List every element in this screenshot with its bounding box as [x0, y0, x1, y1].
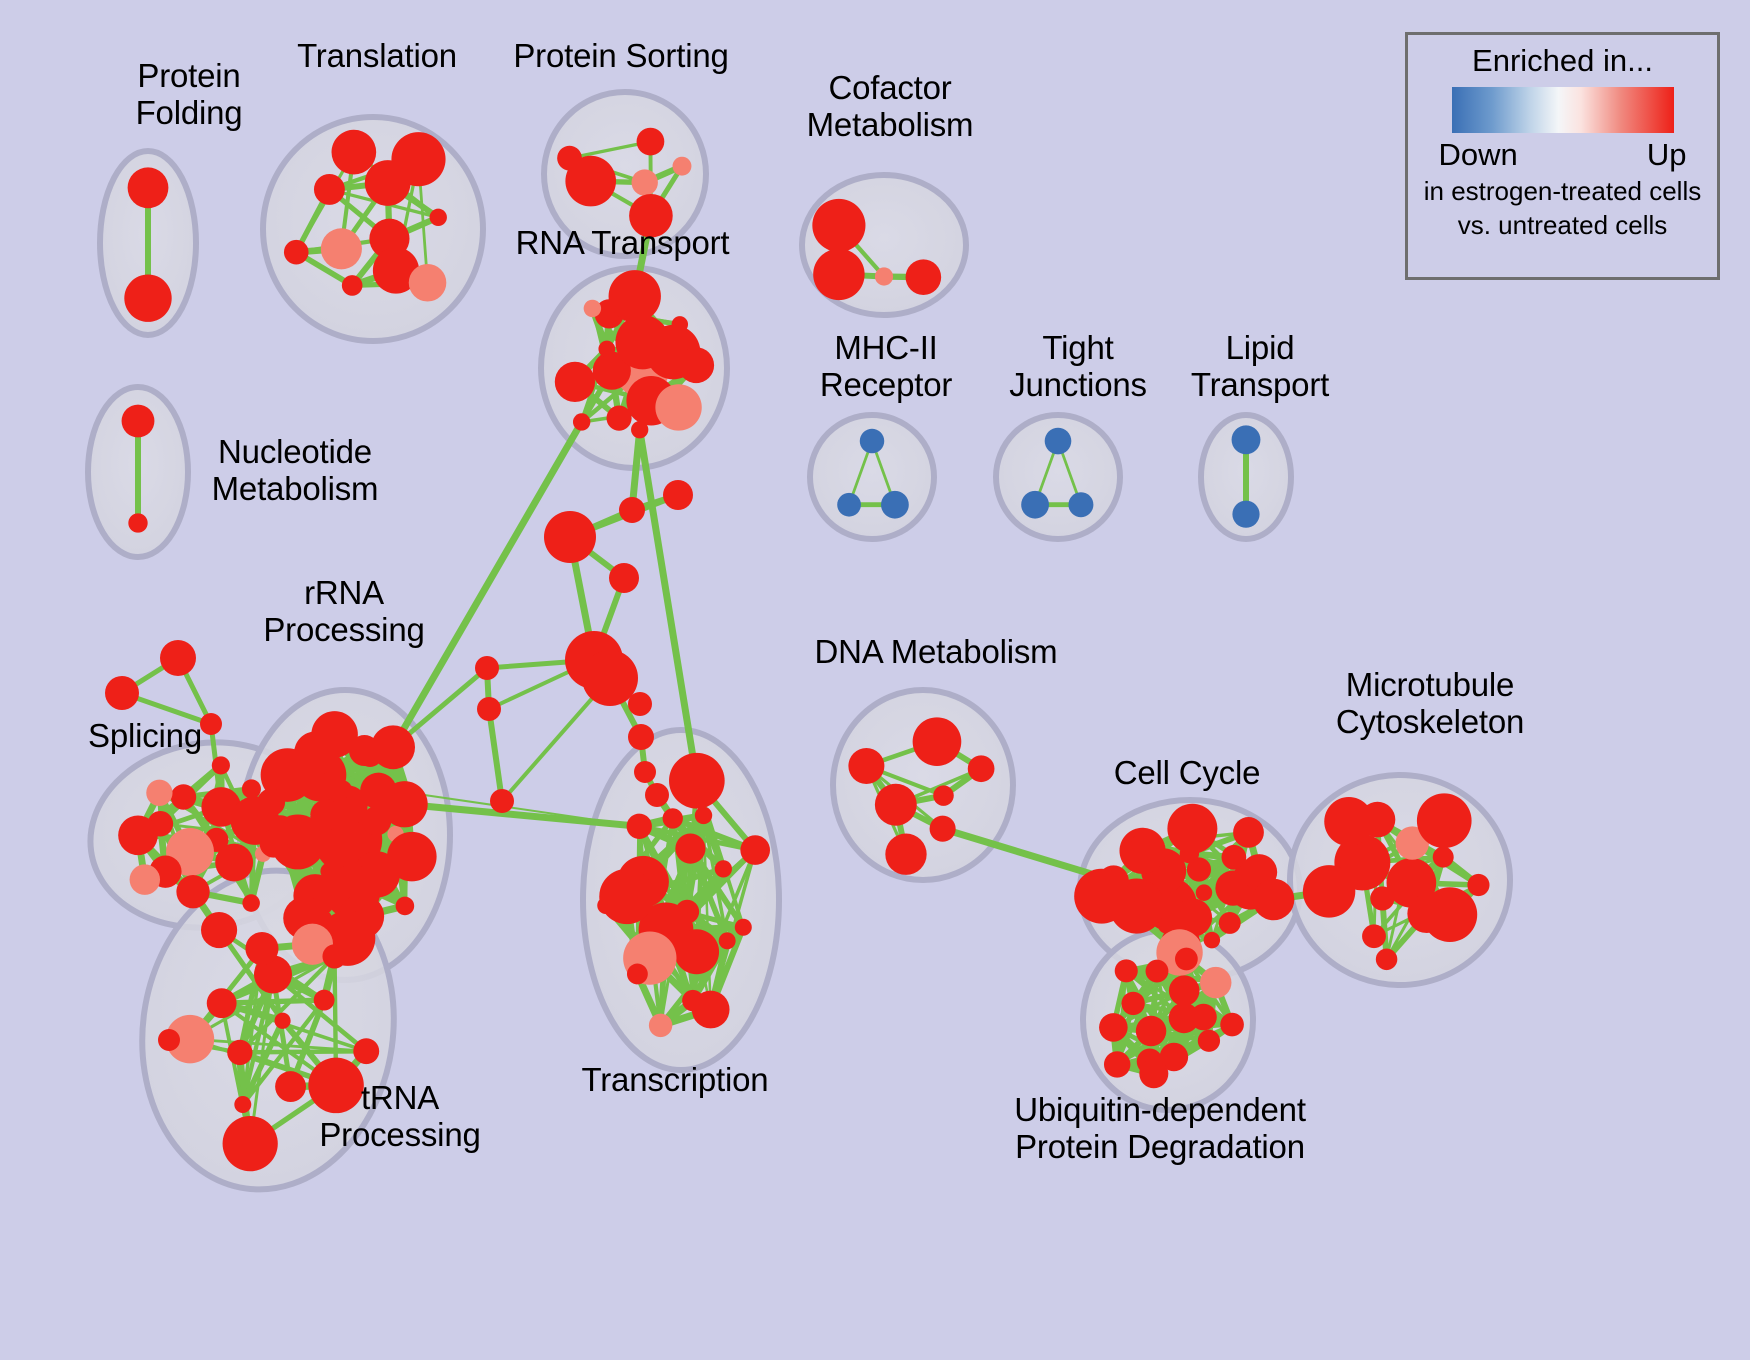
network-node	[598, 341, 615, 358]
network-node	[274, 1013, 290, 1029]
network-node	[409, 264, 447, 302]
network-node	[675, 834, 705, 864]
network-node	[933, 785, 954, 806]
network-node	[314, 174, 345, 205]
enrichment-map-figure: Protein FoldingTranslationProtein Sortin…	[0, 0, 1750, 1360]
network-node	[663, 808, 683, 828]
network-node	[1232, 501, 1259, 528]
network-node	[1167, 804, 1217, 854]
network-node	[1198, 1030, 1220, 1052]
network-node	[673, 157, 692, 176]
network-node	[118, 815, 158, 855]
network-node	[1104, 1051, 1130, 1077]
network-node	[628, 724, 654, 750]
network-node	[353, 1038, 379, 1064]
network-node	[663, 480, 693, 510]
network-node	[1099, 1013, 1128, 1042]
network-node	[875, 784, 917, 826]
network-node	[1139, 1059, 1168, 1088]
network-node	[619, 497, 645, 523]
network-node	[260, 830, 288, 858]
legend-panel: Enriched in... Down Up in estrogen-treat…	[1405, 32, 1720, 280]
network-node	[1433, 847, 1454, 868]
network-node	[223, 1116, 278, 1171]
network-node	[314, 990, 335, 1011]
network-node	[1253, 879, 1295, 921]
network-node	[160, 640, 196, 676]
network-node	[645, 783, 669, 807]
network-node	[649, 1014, 672, 1037]
legend-down-label: Down	[1439, 137, 1518, 173]
network-node	[555, 362, 595, 402]
network-node	[1169, 975, 1200, 1006]
network-node	[128, 513, 147, 532]
network-node	[672, 316, 688, 332]
network-node	[311, 711, 357, 757]
network-node	[860, 429, 884, 453]
network-node	[930, 816, 956, 842]
network-node	[735, 919, 752, 936]
network-node	[582, 650, 638, 706]
network-node	[1233, 817, 1264, 848]
network-node	[812, 199, 865, 252]
network-node	[128, 167, 169, 208]
network-node	[1220, 1013, 1244, 1037]
network-node	[606, 406, 631, 431]
network-node	[1417, 793, 1472, 848]
network-node	[968, 755, 995, 782]
network-node	[637, 128, 665, 156]
network-node	[176, 875, 209, 908]
network-node	[1219, 912, 1241, 934]
network-node	[1115, 959, 1138, 982]
network-node	[105, 676, 139, 710]
network-node	[906, 259, 942, 295]
network-node	[674, 929, 719, 974]
network-node	[875, 267, 893, 285]
network-node	[124, 275, 171, 322]
network-node	[371, 725, 415, 769]
network-node	[234, 1096, 251, 1113]
network-node	[1467, 874, 1489, 896]
network-node	[200, 713, 222, 735]
network-node	[692, 991, 730, 1029]
network-node	[332, 130, 377, 175]
network-node	[342, 275, 363, 296]
network-edge	[489, 709, 502, 801]
network-node	[215, 844, 253, 882]
network-node	[1190, 1004, 1217, 1031]
network-node	[398, 783, 416, 801]
network-node	[146, 780, 172, 806]
legend-caption-line2: vs. untreated cells	[1458, 210, 1668, 241]
legend-up-label: Up	[1647, 137, 1687, 173]
network-node	[573, 413, 590, 430]
network-node	[242, 894, 260, 912]
network-node	[813, 249, 864, 300]
network-node	[837, 493, 861, 517]
network-node	[158, 1029, 180, 1051]
network-node	[396, 897, 415, 916]
network-node	[695, 807, 712, 824]
network-node	[242, 779, 261, 798]
network-node	[1121, 992, 1144, 1015]
network-node	[477, 697, 501, 721]
network-node	[1324, 797, 1373, 846]
network-node	[322, 944, 346, 968]
network-node	[1303, 865, 1355, 917]
network-node	[634, 761, 656, 783]
network-node	[323, 836, 347, 860]
network-node	[130, 864, 160, 894]
network-node	[678, 347, 714, 383]
network-node	[1204, 932, 1220, 948]
network-node	[597, 897, 614, 914]
network-node	[655, 384, 701, 430]
network-node	[913, 717, 962, 766]
network-edge	[222, 1000, 324, 1003]
network-node	[1370, 886, 1394, 910]
network-node	[1131, 835, 1150, 854]
network-node	[719, 932, 736, 949]
network-node	[387, 832, 437, 882]
network-node	[1175, 948, 1198, 971]
network-node	[391, 132, 445, 186]
network-node	[1136, 1016, 1167, 1047]
network-node	[1045, 428, 1072, 455]
network-node	[430, 209, 447, 226]
network-node	[1021, 491, 1049, 519]
legend-color-gradient	[1452, 87, 1674, 133]
network-node	[669, 753, 725, 809]
network-node	[1074, 869, 1129, 924]
network-node	[599, 869, 654, 924]
network-node	[1196, 884, 1213, 901]
network-node	[740, 835, 770, 865]
network-node	[627, 964, 648, 985]
network-node	[1422, 887, 1477, 942]
network-node	[627, 814, 652, 839]
network-node	[212, 756, 230, 774]
network-node	[1200, 967, 1231, 998]
network-node	[848, 748, 884, 784]
network-node	[284, 240, 309, 265]
network-node	[490, 789, 514, 813]
network-node	[1362, 924, 1386, 948]
network-node	[629, 194, 673, 238]
network-node	[632, 169, 658, 195]
network-node	[245, 932, 278, 965]
network-node	[171, 784, 196, 809]
network-node	[1146, 960, 1169, 983]
legend-title: Enriched in...	[1472, 43, 1653, 79]
network-node	[885, 834, 926, 875]
legend-caption-line1: in estrogen-treated cells	[1424, 176, 1701, 207]
network-node	[609, 563, 639, 593]
network-node	[275, 1071, 306, 1102]
network-node	[257, 788, 285, 816]
network-node	[122, 405, 155, 438]
network-node	[584, 300, 601, 317]
network-node	[544, 511, 596, 563]
network-node	[227, 1040, 252, 1065]
network-node	[1068, 492, 1093, 517]
network-node	[308, 1058, 364, 1114]
network-node	[631, 421, 648, 438]
network-node	[609, 270, 661, 322]
network-node	[628, 692, 652, 716]
network-node	[881, 491, 909, 519]
network-node	[321, 228, 362, 269]
network-node	[1376, 949, 1398, 971]
network-node	[201, 912, 237, 948]
network-node	[207, 988, 237, 1018]
network-node	[715, 860, 732, 877]
network-node	[475, 656, 499, 680]
network-node	[557, 146, 582, 171]
network-node	[1232, 425, 1261, 454]
